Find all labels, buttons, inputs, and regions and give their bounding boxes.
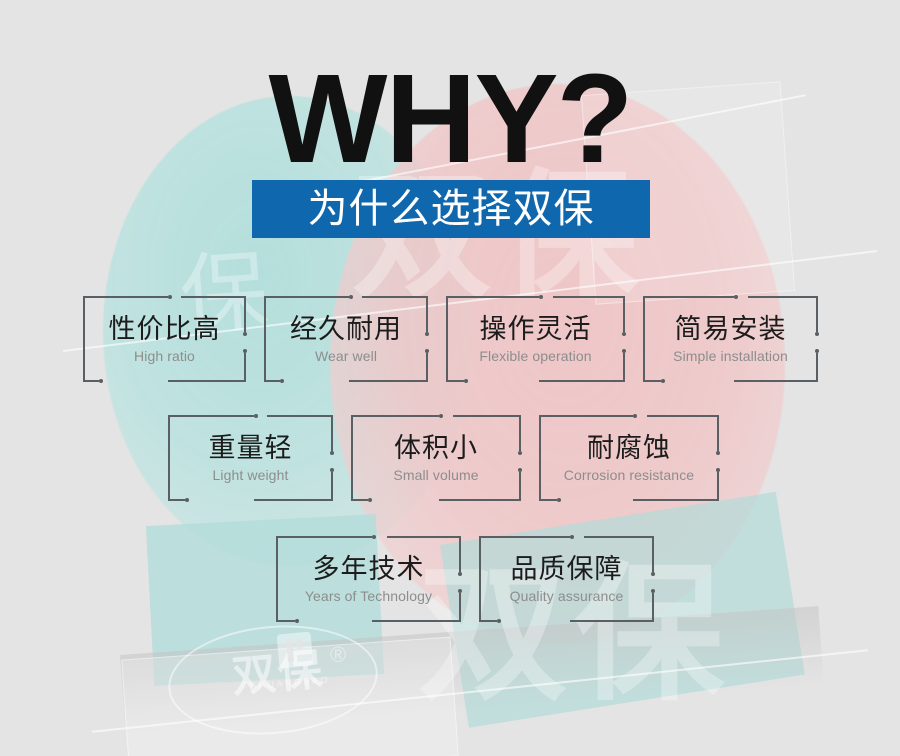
feature-card-light-weight[interactable]: 重量轻 Light weight [168, 415, 333, 501]
frame-edge-icon [633, 499, 719, 501]
feature-card-small-volume[interactable]: 体积小 Small volume [351, 415, 521, 501]
frame-edge-icon [372, 620, 461, 622]
frame-dot-icon [295, 619, 299, 623]
feature-title-cn: 体积小 [394, 434, 478, 464]
frame-edge-icon [623, 296, 625, 332]
feature-title-en: Light weight [213, 467, 289, 484]
frame-dot-icon [425, 349, 429, 353]
feature-card-quality-assurance[interactable]: 品质保障 Quality assurance [479, 536, 654, 622]
frame-dot-icon [243, 349, 247, 353]
feature-title-cn: 多年技术 [313, 555, 425, 585]
frame-edge-icon [264, 380, 280, 382]
frame-dot-icon [815, 349, 819, 353]
feature-title-en: Small volume [393, 467, 478, 484]
frame-dot-icon [633, 414, 637, 418]
feature-title-en: Quality assurance [510, 588, 624, 605]
frame-dot-icon [518, 468, 522, 472]
frame-edge-icon [539, 415, 541, 501]
frame-dot-icon [458, 572, 462, 576]
frame-edge-icon [83, 296, 168, 298]
feature-title-cn: 品质保障 [511, 555, 623, 585]
frame-dot-icon [439, 414, 443, 418]
frame-dot-icon [734, 295, 738, 299]
frame-edge-icon [539, 499, 557, 501]
feature-row-3: 多年技术 Years of Technology 品质保障 Quality as… [276, 536, 654, 622]
feature-title-cn: 简易安装 [675, 315, 787, 345]
frame-edge-icon [519, 415, 521, 451]
frame-edge-icon [570, 620, 654, 622]
frame-dot-icon [716, 451, 720, 455]
frame-edge-icon [362, 296, 428, 298]
frame-dot-icon [458, 589, 462, 593]
frame-dot-icon [464, 379, 468, 383]
frame-dot-icon [815, 332, 819, 336]
feature-row-2: 重量轻 Light weight 体积小 Small volume [168, 415, 719, 501]
feature-title-en: High ratio [134, 348, 195, 365]
subtitle-text: 为什么选择双保 [308, 189, 595, 229]
frame-edge-icon [267, 415, 333, 417]
frame-edge-icon [459, 536, 461, 572]
feature-card-simple-installation[interactable]: 简易安装 Simple installation [643, 296, 818, 382]
frame-edge-icon [351, 415, 353, 501]
subtitle-banner: 为什么选择双保 [252, 180, 650, 238]
frame-dot-icon [570, 535, 574, 539]
frame-dot-icon [518, 451, 522, 455]
frame-dot-icon [349, 295, 353, 299]
feature-title-en: Simple installation [673, 348, 788, 365]
frame-edge-icon [643, 296, 645, 382]
frame-dot-icon [651, 589, 655, 593]
feature-title-en: Flexible operation [479, 348, 591, 365]
frame-dot-icon [557, 498, 561, 502]
frame-edge-icon [643, 380, 661, 382]
frame-edge-icon [387, 536, 461, 538]
frame-edge-icon [244, 296, 246, 332]
frame-edge-icon [264, 296, 266, 382]
frame-edge-icon [331, 415, 333, 451]
frame-dot-icon [372, 535, 376, 539]
frame-edge-icon [479, 536, 481, 622]
feature-card-corrosion-resistance[interactable]: 耐腐蚀 Corrosion resistance [539, 415, 719, 501]
feature-card-wear-well[interactable]: 经久耐用 Wear well [264, 296, 428, 382]
frame-dot-icon [330, 451, 334, 455]
frame-dot-icon [651, 572, 655, 576]
frame-edge-icon [652, 593, 654, 622]
frame-edge-icon [264, 296, 349, 298]
feature-title-cn: 经久耐用 [290, 315, 402, 345]
frame-edge-icon [643, 296, 734, 298]
frame-dot-icon [185, 498, 189, 502]
feature-title-en: Wear well [315, 348, 377, 365]
frame-edge-icon [439, 499, 521, 501]
frame-edge-icon [717, 472, 719, 501]
frame-edge-icon [276, 620, 295, 622]
frame-edge-icon [816, 296, 818, 332]
frame-edge-icon [584, 536, 654, 538]
frame-edge-icon [276, 536, 278, 622]
frame-dot-icon [497, 619, 501, 623]
feature-title-cn: 性价比高 [109, 315, 221, 345]
feature-title-en: Years of Technology [305, 588, 432, 605]
page-title: WHY? [0, 56, 900, 182]
frame-edge-icon [426, 353, 428, 382]
poster-canvas: 保 双保 ® 双保 双保 SHUANGBAO ® WHY? 为什么选择双保 [0, 0, 900, 756]
frame-edge-icon [647, 415, 719, 417]
feature-card-high-ratio[interactable]: 性价比高 High ratio [83, 296, 246, 382]
frame-edge-icon [83, 380, 99, 382]
frame-edge-icon [181, 296, 246, 298]
frame-dot-icon [716, 468, 720, 472]
frame-edge-icon [816, 353, 818, 382]
frame-edge-icon [539, 380, 625, 382]
frame-edge-icon [254, 499, 333, 501]
frame-edge-icon [446, 296, 448, 382]
frame-edge-icon [734, 380, 818, 382]
frame-edge-icon [446, 380, 464, 382]
frame-edge-icon [349, 380, 428, 382]
frame-dot-icon [330, 468, 334, 472]
frame-dot-icon [243, 332, 247, 336]
feature-row-1: 性价比高 High ratio 经久耐用 Wear well [83, 296, 818, 382]
frame-edge-icon [331, 472, 333, 501]
feature-title-cn: 重量轻 [209, 434, 293, 464]
frame-edge-icon [539, 415, 633, 417]
frame-edge-icon [519, 472, 521, 501]
feature-card-years-of-technology[interactable]: 多年技术 Years of Technology [276, 536, 461, 622]
frame-dot-icon [254, 414, 258, 418]
frame-edge-icon [426, 296, 428, 332]
frame-edge-icon [479, 620, 497, 622]
feature-title-cn: 耐腐蚀 [587, 434, 671, 464]
frame-edge-icon [83, 296, 85, 382]
frame-edge-icon [244, 353, 246, 382]
frame-dot-icon [168, 295, 172, 299]
feature-title-en: Corrosion resistance [564, 467, 694, 484]
frame-dot-icon [622, 332, 626, 336]
frame-edge-icon [459, 593, 461, 622]
frame-edge-icon [748, 296, 818, 298]
frame-edge-icon [168, 415, 254, 417]
frame-dot-icon [425, 332, 429, 336]
frame-edge-icon [652, 536, 654, 572]
frame-dot-icon [280, 379, 284, 383]
frame-edge-icon [453, 415, 521, 417]
frame-edge-icon [168, 415, 170, 501]
frame-edge-icon [351, 499, 368, 501]
feature-title-cn: 操作灵活 [480, 315, 592, 345]
feature-card-flexible-operation[interactable]: 操作灵活 Flexible operation [446, 296, 625, 382]
frame-edge-icon [553, 296, 625, 298]
frame-dot-icon [622, 349, 626, 353]
frame-edge-icon [479, 536, 570, 538]
frame-edge-icon [623, 353, 625, 382]
frame-dot-icon [539, 295, 543, 299]
frame-edge-icon [168, 380, 246, 382]
frame-dot-icon [661, 379, 665, 383]
frame-edge-icon [351, 415, 439, 417]
frame-dot-icon [99, 379, 103, 383]
frame-edge-icon [276, 536, 372, 538]
frame-dot-icon [368, 498, 372, 502]
frame-edge-icon [717, 415, 719, 451]
frame-edge-icon [168, 499, 185, 501]
frame-edge-icon [446, 296, 539, 298]
